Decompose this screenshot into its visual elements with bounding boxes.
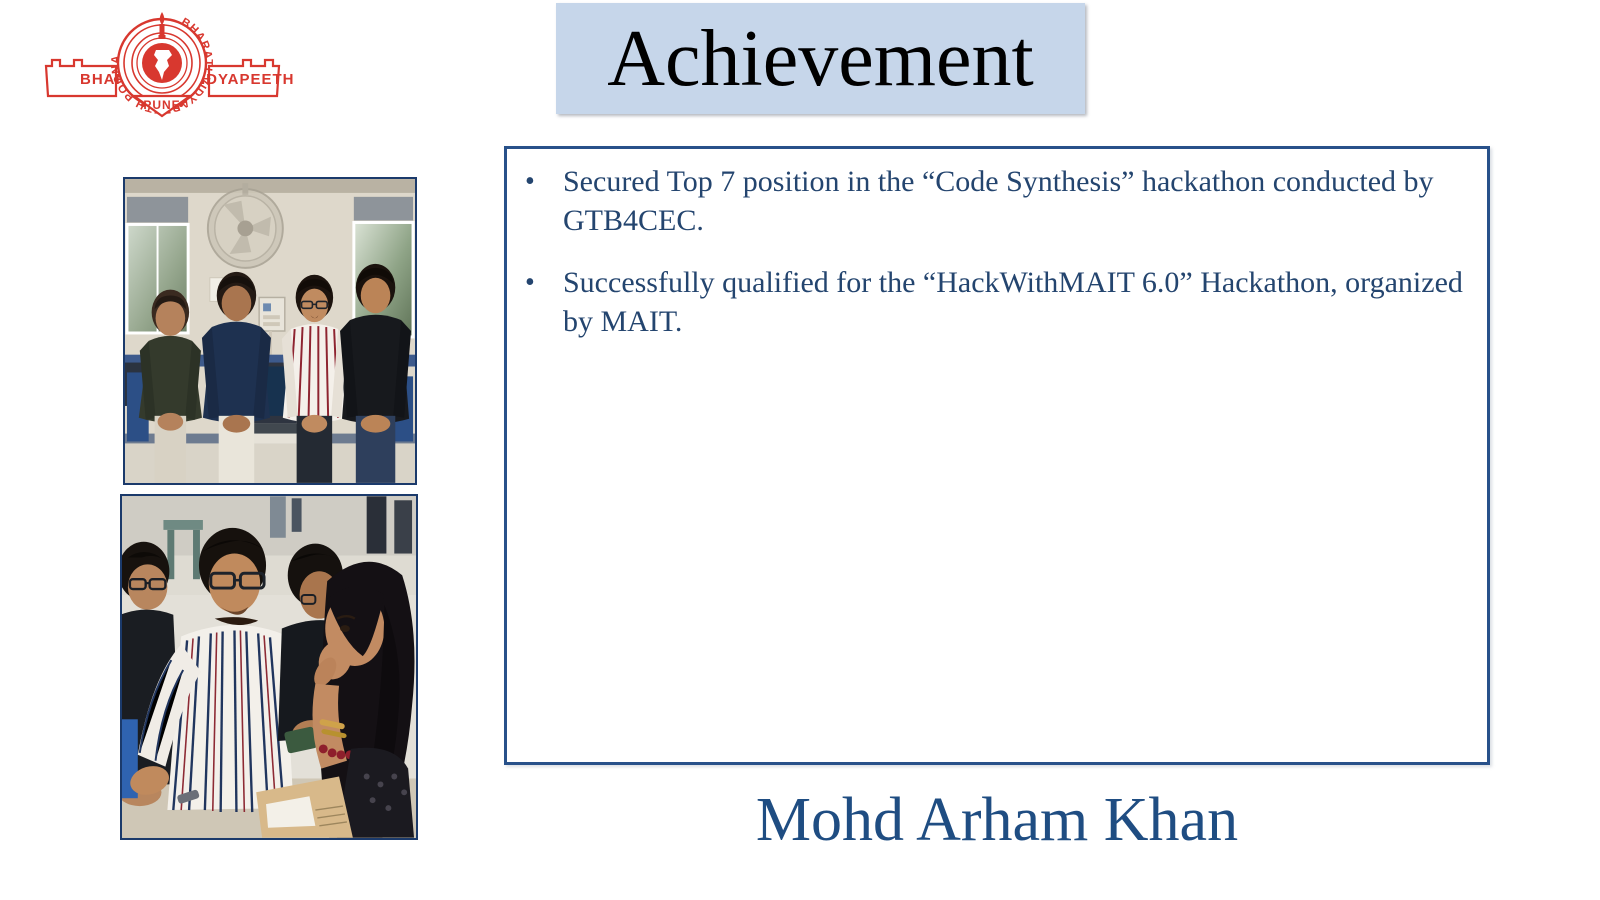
list-item: • Successfully qualified for the “HackWi…: [521, 262, 1477, 341]
presentation-slide: BHARATI VIDYAPEETH BHARATI VIDYAPEETH PO…: [0, 0, 1600, 900]
team-group-photo: [123, 177, 417, 485]
content-panel: • Secured Top 7 position in the “Code Sy…: [504, 146, 1490, 765]
presenter-name: Mohd Arham Khan: [504, 782, 1490, 858]
slide-title-box: Achievement: [556, 3, 1085, 114]
bullet-dot-icon: •: [521, 262, 563, 304]
bullet-text: Successfully qualified for the “HackWith…: [563, 262, 1477, 341]
hackathon-working-photo: [120, 494, 418, 840]
list-item: • Secured Top 7 position in the “Code Sy…: [521, 161, 1477, 240]
svg-text:PUNE: PUNE: [143, 98, 180, 112]
page-title: Achievement: [607, 19, 1033, 99]
bullet-dot-icon: •: [521, 161, 563, 203]
bharati-vidyapeeth-logo: BHARATI VIDYAPEETH BHARATI VIDYAPEETH PO…: [30, 8, 295, 120]
bullet-text: Secured Top 7 position in the “Code Synt…: [563, 161, 1477, 240]
achievement-bullet-list: • Secured Top 7 position in the “Code Sy…: [521, 161, 1477, 363]
